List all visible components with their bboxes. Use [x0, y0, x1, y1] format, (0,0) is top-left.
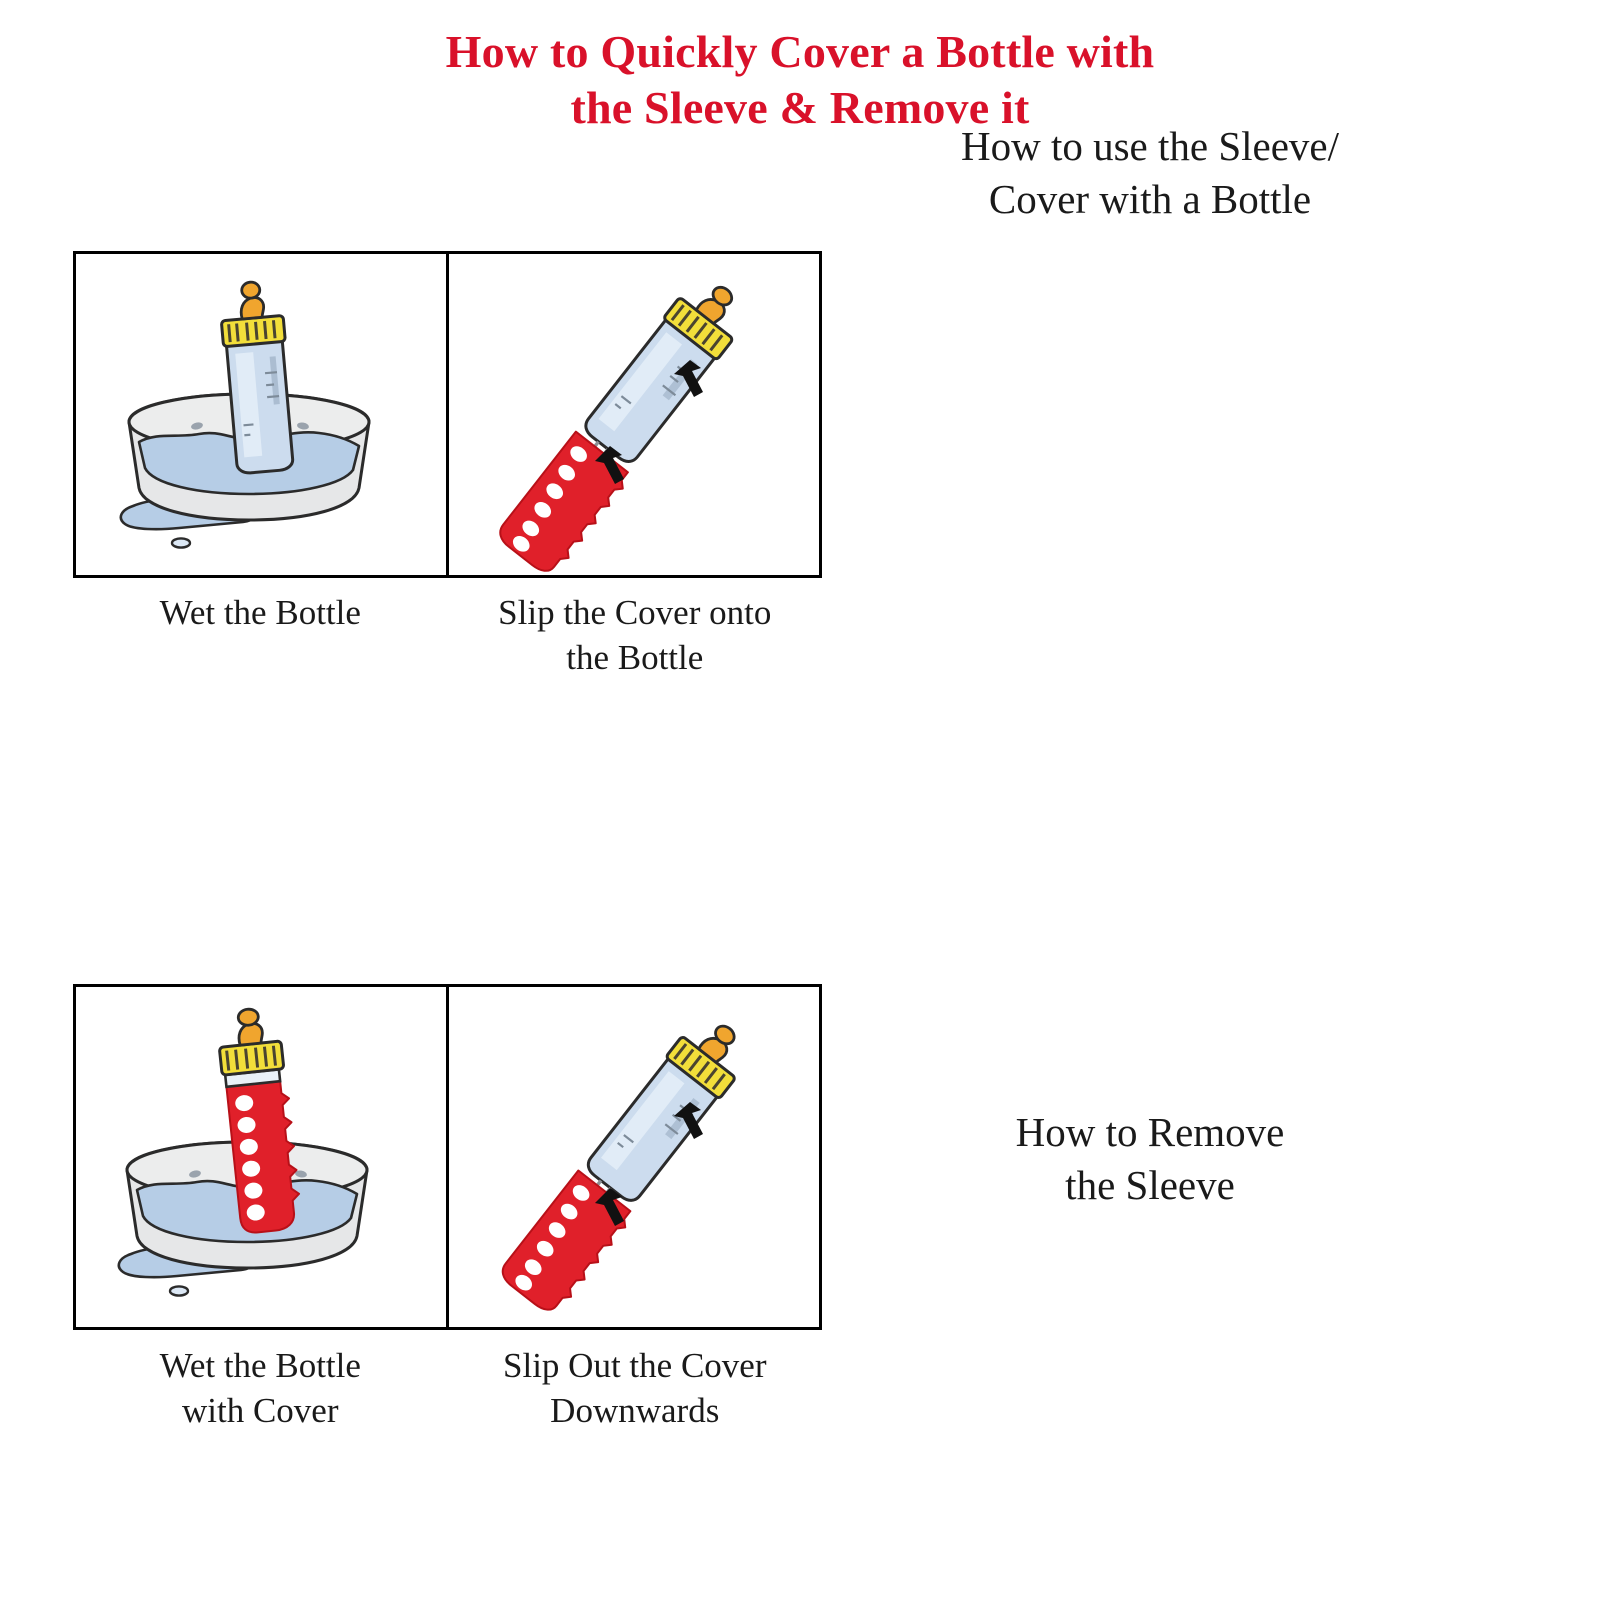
caption-line-2: the Bottle — [454, 636, 817, 681]
caption-slip-cover-on: Slip the Cover onto the Bottle — [448, 591, 823, 681]
bottle-nipple-tip — [237, 1008, 259, 1026]
tilted-bottle-and-sleeve — [494, 269, 759, 573]
caption-line-1: Slip the Cover onto — [454, 591, 817, 636]
caption-wet-bottle-with-cover: Wet the Bottle with Cover — [73, 1344, 448, 1434]
caption-line-1: Wet the Bottle — [79, 1344, 442, 1389]
water-droplet — [170, 1286, 188, 1295]
caption-wet-the-bottle: Wet the Bottle — [73, 591, 448, 681]
bottle-nipple-tip — [241, 281, 260, 299]
illustration-sleeve-slipping-on — [454, 256, 814, 574]
caption-line-1: Slip Out the Cover — [454, 1344, 817, 1389]
bottle-nipple — [240, 296, 265, 318]
panel-wet-the-bottle — [76, 254, 446, 575]
tilted-bottle-and-sleeve — [496, 1008, 761, 1319]
panel-slip-cover-off — [446, 987, 819, 1327]
heading-line-1: How to Remove — [880, 1106, 1420, 1159]
caption-line-2: with Cover — [79, 1389, 442, 1434]
panel-wet-bottle-with-cover — [76, 987, 446, 1327]
panel-frame-cover — [73, 251, 822, 578]
page-title-line-1: How to Quickly Cover a Bottle with — [0, 24, 1600, 80]
panel-frame-remove — [73, 984, 822, 1330]
caption-line-1: Wet the Bottle — [79, 591, 442, 636]
heading-line-2: Cover with a Bottle — [860, 173, 1440, 226]
panel-slip-cover-on — [446, 254, 819, 575]
water-droplet — [172, 538, 190, 547]
caption-slip-cover-off: Slip Out the Cover Downwards — [448, 1344, 823, 1434]
caption-line-2: Downwards — [454, 1389, 817, 1434]
illustration-covered-bottle-in-bowl — [81, 988, 441, 1326]
heading-how-to-use-sleeve: How to use the Sleeve/ Cover with a Bott… — [860, 120, 1440, 227]
heading-line-1: How to use the Sleeve/ — [860, 120, 1440, 173]
heading-line-2: the Sleeve — [880, 1159, 1420, 1212]
heading-how-to-remove-sleeve: How to Remove the Sleeve — [880, 1106, 1420, 1213]
illustration-bottle-in-water-bowl — [81, 256, 441, 574]
caption-row-cover: Wet the Bottle Slip the Cover onto the B… — [73, 591, 822, 681]
illustration-sleeve-slipping-off — [454, 988, 814, 1326]
caption-row-remove: Wet the Bottle with Cover Slip Out the C… — [73, 1344, 822, 1434]
